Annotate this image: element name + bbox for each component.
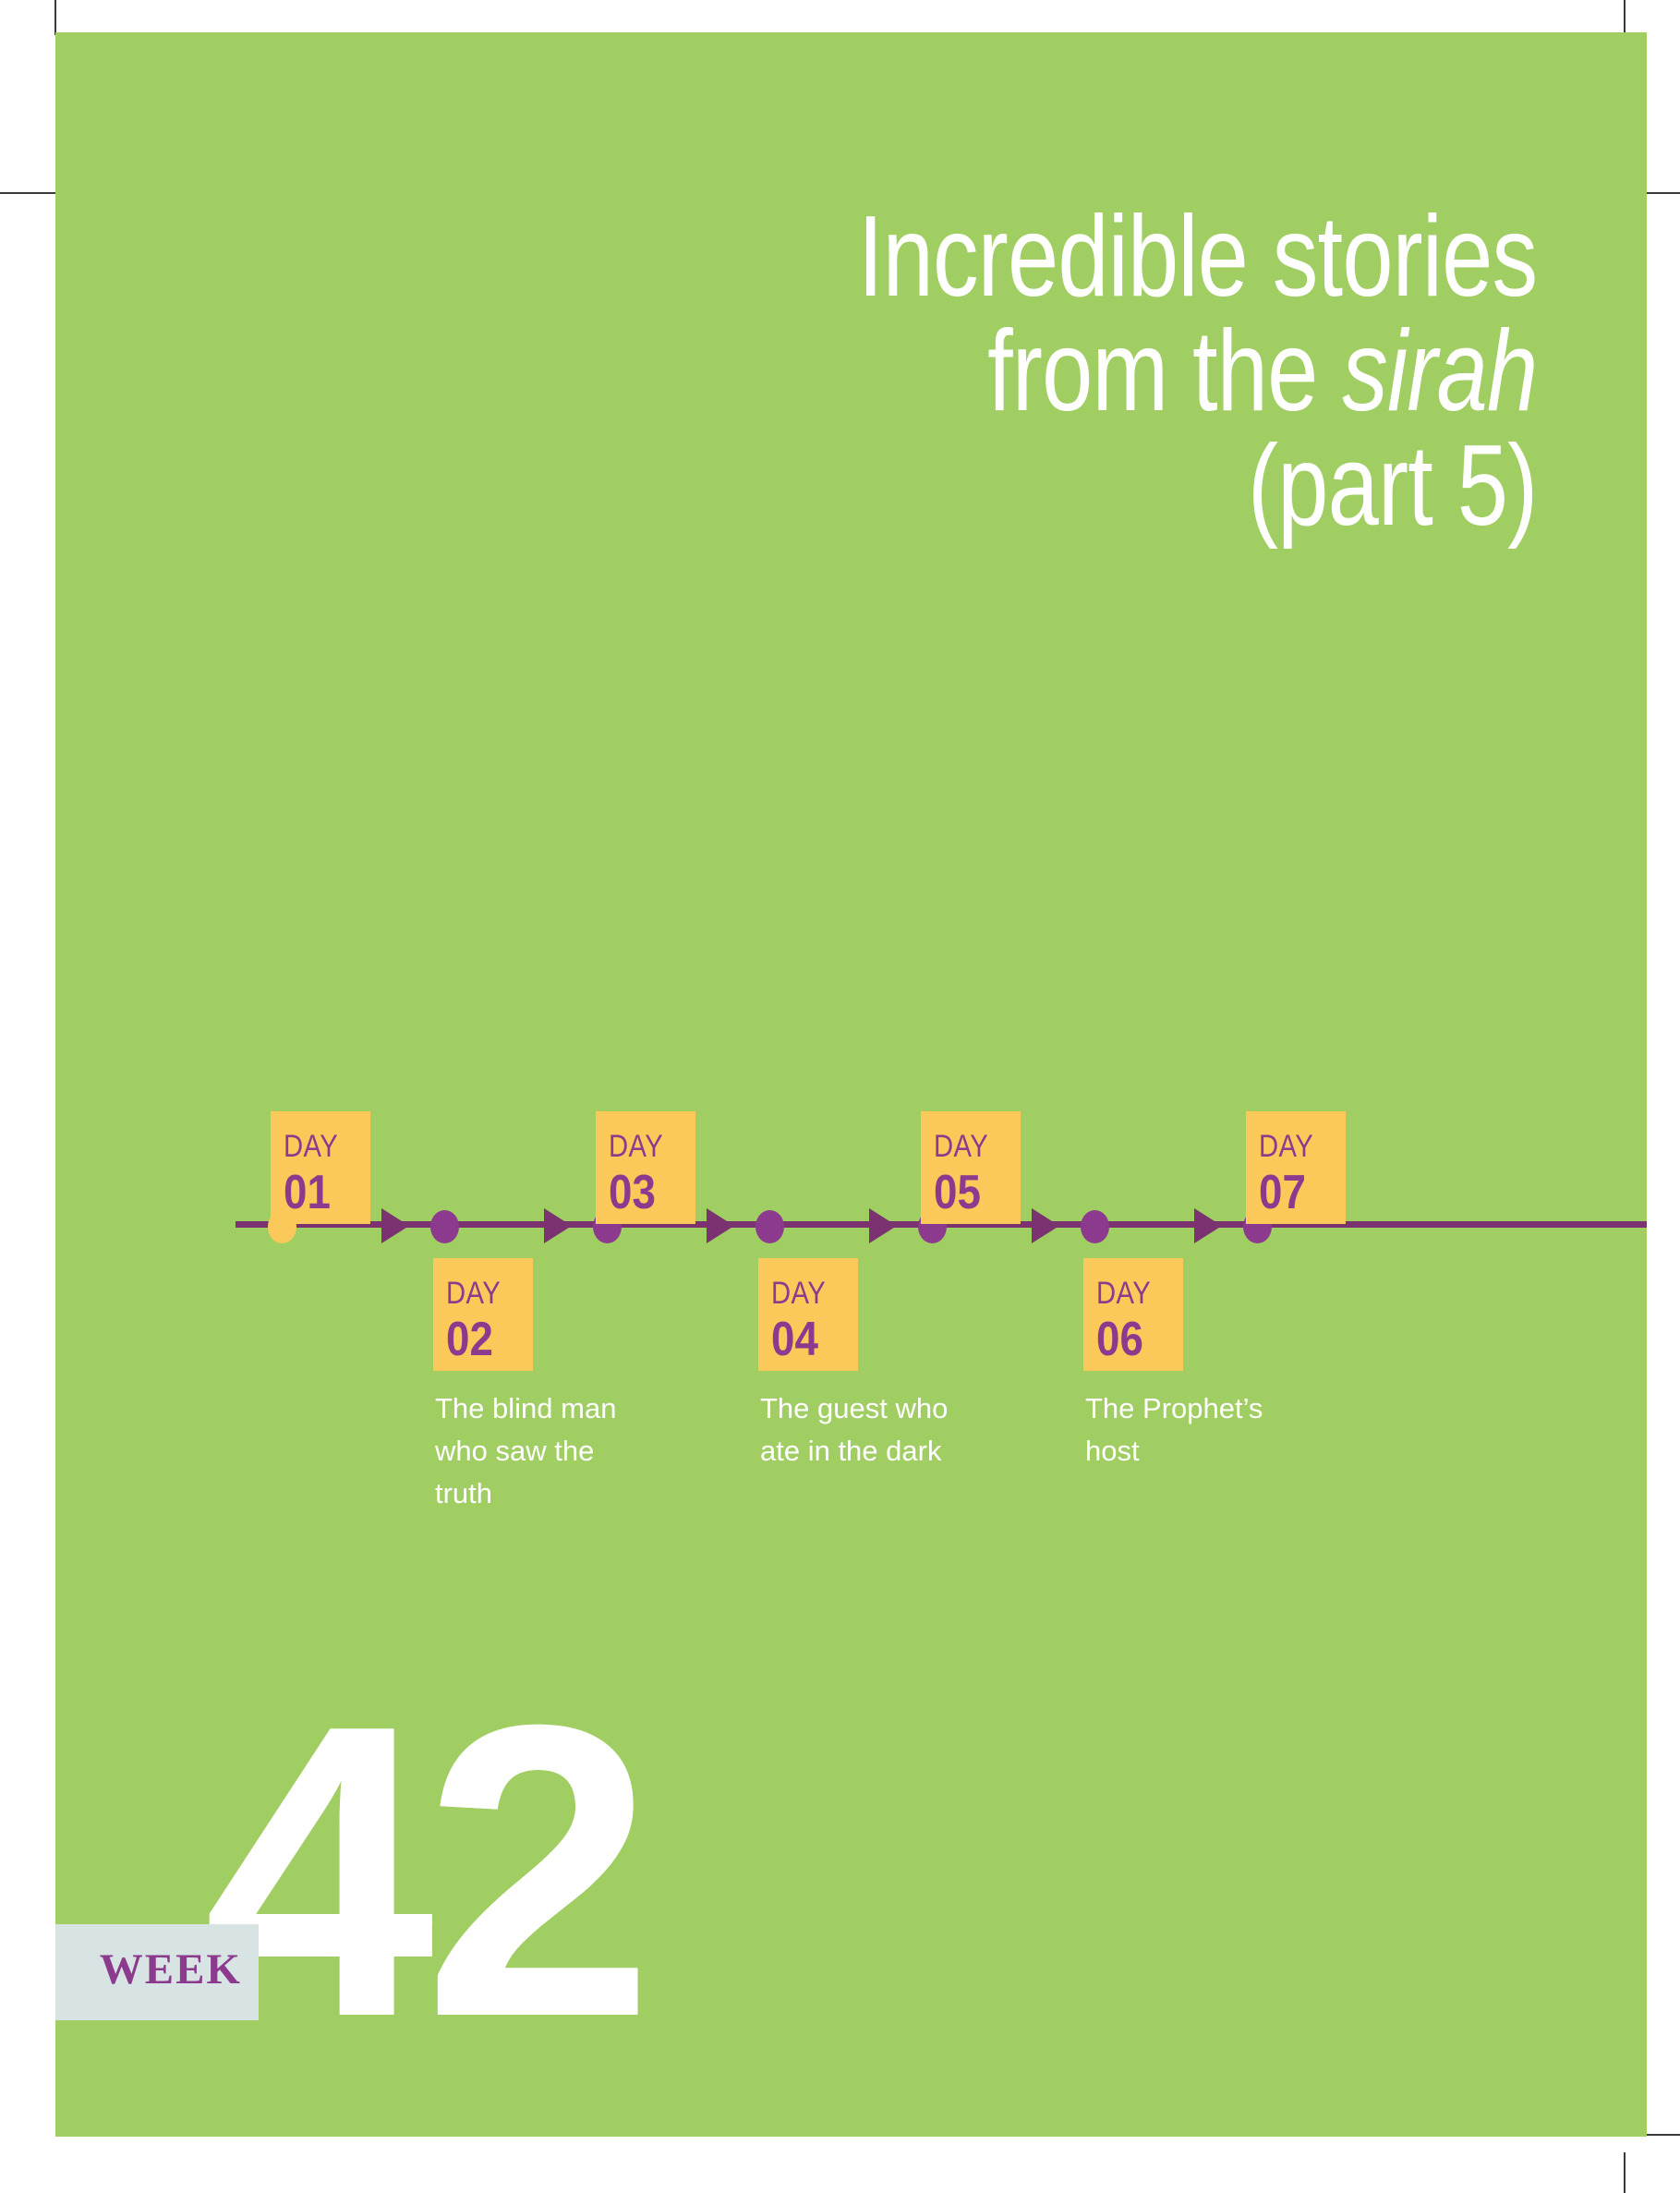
day-chip-number: 04 xyxy=(771,1315,848,1363)
week-ribbon: WEEK xyxy=(55,1924,259,2020)
timeline-dot[interactable] xyxy=(268,1210,296,1243)
crop-mark-bottom-right-vertical xyxy=(1624,2152,1626,2193)
day-chip[interactable]: DAY04 xyxy=(758,1258,858,1371)
week-label: WEEK xyxy=(100,1948,242,1992)
page-title-line-2-text: from the xyxy=(987,308,1342,435)
timeline-dot[interactable] xyxy=(1243,1210,1272,1243)
timeline-arrow xyxy=(381,1208,409,1243)
day-chip[interactable]: DAY03 xyxy=(596,1111,695,1224)
story-label: The guest who ate in the dark xyxy=(760,1387,959,1472)
day-chip-number: 07 xyxy=(1259,1169,1336,1217)
crop-mark-top-right-vertical xyxy=(1624,0,1626,35)
day-chip[interactable]: DAY01 xyxy=(271,1111,370,1224)
day-chip-number: 05 xyxy=(934,1169,1010,1217)
day-chip[interactable]: DAY07 xyxy=(1246,1111,1346,1224)
page-title-emphasis-sirah: sirah xyxy=(1342,308,1537,435)
page-title: Incredible stories from the sirah (part … xyxy=(858,200,1537,543)
week-number-ghost-bottom: 42 xyxy=(203,2020,628,2079)
day-chip-number: 03 xyxy=(609,1169,685,1217)
day-chip-word: DAY xyxy=(446,1278,521,1308)
day-chip[interactable]: DAY05 xyxy=(921,1111,1021,1224)
day-chip-word: DAY xyxy=(609,1132,683,1161)
day-chip[interactable]: DAY02 xyxy=(433,1258,533,1371)
timeline-dot[interactable] xyxy=(430,1210,459,1243)
timeline-dot[interactable] xyxy=(918,1210,947,1243)
story-label: The blind man who saw the truth xyxy=(435,1387,634,1515)
page-title-line-2: from the sirah xyxy=(858,314,1537,429)
page-title-line-3: (part 5) xyxy=(858,429,1537,543)
timeline-dot[interactable] xyxy=(755,1210,784,1243)
timeline-arrow xyxy=(1032,1208,1059,1243)
week-number-overlap-top: 42 xyxy=(203,1664,591,1924)
day-chip-number: 02 xyxy=(446,1315,523,1363)
timeline-axis-line xyxy=(236,1221,1647,1228)
day-chip-number: 06 xyxy=(1096,1315,1173,1363)
week-number-ghost-top: 42 xyxy=(203,1664,591,1924)
week-badge: 42 WEEK 42 42 xyxy=(55,1723,573,2074)
timeline-arrow xyxy=(707,1208,734,1243)
timeline-dot[interactable] xyxy=(593,1210,622,1243)
day-chip-word: DAY xyxy=(1096,1278,1171,1308)
page-title-line-1: Incredible stories xyxy=(858,200,1537,314)
day-chip-word: DAY xyxy=(1259,1132,1334,1161)
day-chip[interactable]: DAY06 xyxy=(1083,1258,1183,1371)
week-number-overlap-bottom: 42 xyxy=(203,2020,628,2137)
crop-mark-top-left-vertical xyxy=(54,0,56,35)
timeline-dot[interactable] xyxy=(1081,1210,1109,1243)
timeline-arrow xyxy=(869,1208,897,1243)
day-chip-word: DAY xyxy=(934,1132,1009,1161)
day-chip-word: DAY xyxy=(284,1132,358,1161)
day-chip-number: 01 xyxy=(284,1169,360,1217)
timeline-arrow xyxy=(1194,1208,1222,1243)
day-chip-word: DAY xyxy=(771,1278,846,1308)
story-label: The Prophet’s host xyxy=(1085,1387,1284,1472)
timeline-arrow xyxy=(544,1208,572,1243)
page-panel: Incredible stories from the sirah (part … xyxy=(55,32,1647,2137)
